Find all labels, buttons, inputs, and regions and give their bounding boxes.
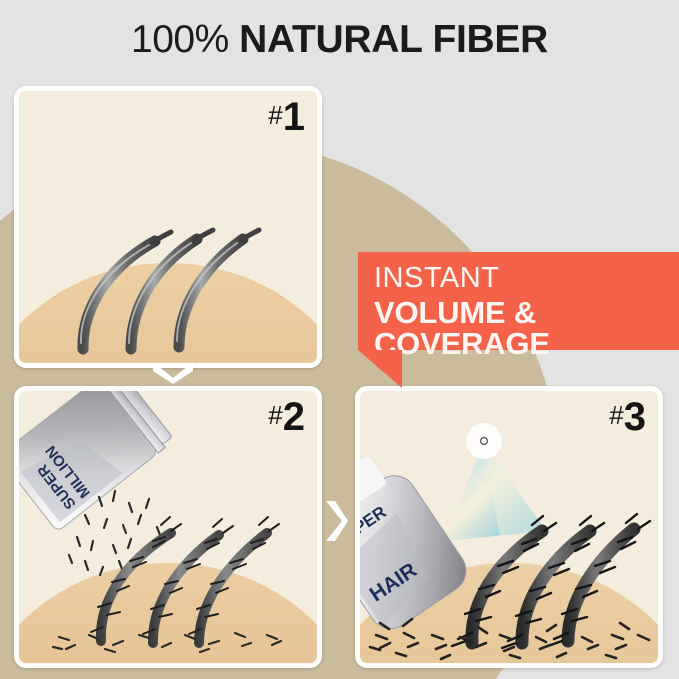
panel-1-digit: 1 bbox=[283, 95, 305, 139]
promo-banner-tail bbox=[358, 350, 402, 388]
promo-banner: INSTANT VOLUME & COVERAGE bbox=[358, 252, 679, 350]
step-panel-2[interactable]: SUPER MILLION bbox=[14, 386, 322, 668]
right-chevron-icon bbox=[322, 498, 348, 544]
panel-3-number: #3 bbox=[609, 397, 646, 437]
promo-line-2: VOLUME & COVERAGE bbox=[374, 297, 679, 360]
down-chevron-icon bbox=[150, 358, 196, 384]
poster-canvas: 100% NATURAL FIBER bbox=[0, 0, 679, 679]
title-percent: 100% bbox=[131, 18, 229, 61]
promo-banner-text: INSTANT VOLUME & COVERAGE bbox=[374, 264, 679, 360]
panel-2-digit: 2 bbox=[283, 395, 305, 439]
panel-1-number: #1 bbox=[268, 97, 305, 137]
panel-2-number: #2 bbox=[268, 397, 305, 437]
title-main: NATURAL FIBER bbox=[239, 18, 548, 61]
step-panel-3[interactable]: SUPER HAIR bbox=[355, 386, 663, 668]
panel-1-hash: # bbox=[268, 100, 282, 130]
panel-2-hash: # bbox=[268, 400, 282, 430]
promo-line-1: INSTANT bbox=[374, 264, 679, 294]
page-title: 100% NATURAL FIBER bbox=[0, 18, 679, 62]
panel-3-digit: 3 bbox=[624, 395, 646, 439]
panel-3-hash: # bbox=[609, 400, 623, 430]
step-panel-1[interactable]: #1 bbox=[14, 86, 322, 368]
